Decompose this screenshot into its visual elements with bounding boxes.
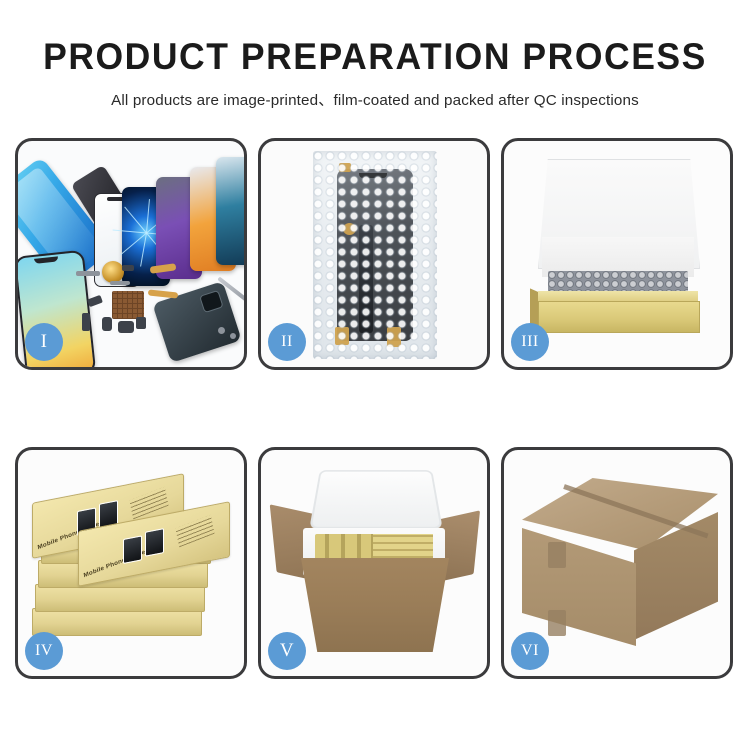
box-label-image-4 (145, 528, 164, 557)
tape-tab-1-icon (339, 163, 351, 172)
speaker-part-icon (76, 271, 100, 276)
box-label-image-3 (123, 535, 142, 564)
step-badge-4: IV (25, 632, 63, 670)
step-badge-6: VI (511, 632, 549, 670)
step-badge-2: II (268, 323, 306, 361)
box-label-speclines-2 (175, 515, 214, 548)
process-step-6: VI (501, 447, 733, 679)
process-step-4: Mobile Phone Spare Parts Mobile Phone Sp… (15, 447, 247, 679)
shipping-carton-body-icon (301, 558, 449, 652)
antenna-part-icon (110, 281, 130, 285)
carton-tape-patch-1-icon (548, 542, 566, 568)
module-part-icon (118, 321, 134, 333)
page-title: PRODUCT PREPARATION PROCESS (15, 38, 735, 75)
tape-tab-2-icon (343, 223, 356, 235)
page-subtitle: All products are image-printed、film-coat… (0, 88, 750, 110)
kraft-box-front-icon (538, 301, 700, 333)
button-part-icon (136, 317, 146, 329)
process-step-2: II (258, 138, 490, 370)
stacked-box-2 (35, 584, 205, 612)
bubble-wrap-bag-icon (313, 151, 437, 359)
box-stack-icon: Mobile Phone Spare Parts Mobile Phone Sp… (32, 472, 232, 656)
wrapped-screen-icon (337, 169, 413, 341)
process-step-5: V (258, 447, 490, 679)
process-step-3: III (501, 138, 733, 370)
battery-part-icon (82, 313, 90, 331)
process-step-grid: I II (15, 138, 735, 678)
process-step-1: I (15, 138, 247, 370)
step-badge-3: III (511, 323, 549, 361)
carton-tape-patch-2-icon (548, 610, 566, 636)
product-preparation-infographic: PRODUCT PREPARATION PROCESS All products… (0, 0, 750, 750)
tape-tab-3-icon (335, 327, 349, 345)
screw-icon (218, 327, 225, 334)
tape-tab-4-icon (387, 327, 401, 347)
copper-coil-icon (102, 261, 124, 283)
carton-front-icon (522, 528, 636, 646)
header: PRODUCT PREPARATION PROCESS All products… (0, 0, 750, 110)
chip-grid-icon (112, 291, 144, 319)
teal-phone-icon (216, 157, 244, 265)
step-badge-5: V (268, 632, 306, 670)
screw-2-icon (230, 333, 236, 339)
sim-tray-part-icon (122, 265, 134, 271)
connector-part-icon (87, 295, 103, 307)
foam-lid-icon (309, 470, 442, 529)
flex-cable-part-2-icon (148, 289, 178, 298)
stacked-box-1 (32, 608, 202, 636)
flex-cable-icon (359, 225, 373, 333)
step-badge-1: I (25, 323, 63, 361)
camera-part-icon (102, 317, 112, 331)
